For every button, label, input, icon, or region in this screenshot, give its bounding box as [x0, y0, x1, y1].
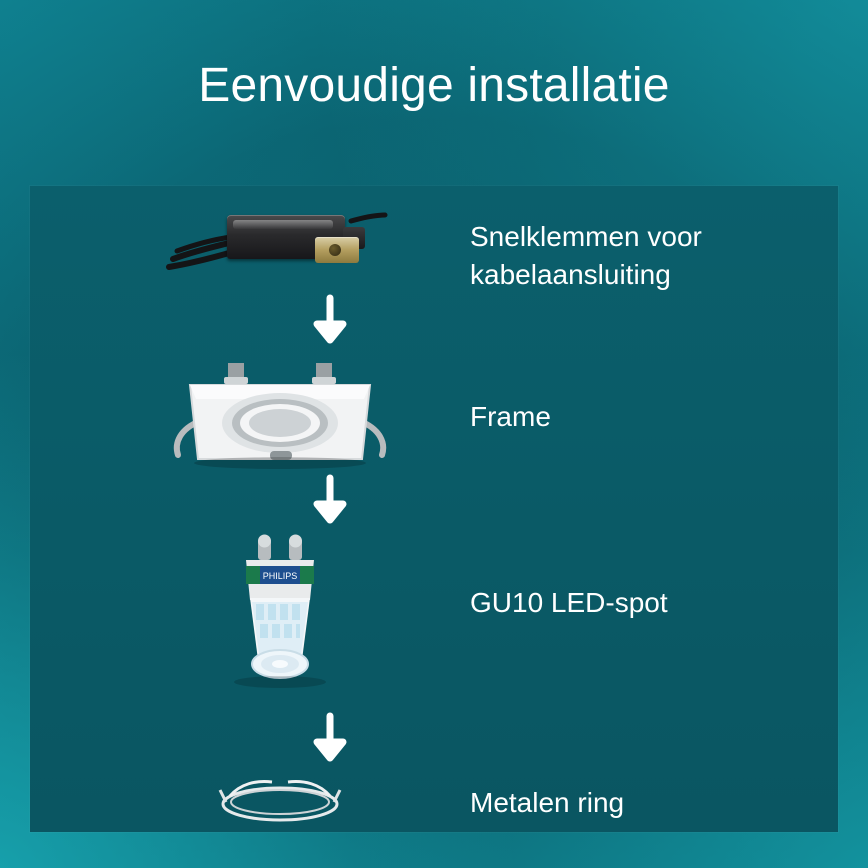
gu10-led-lamp-icon: PHILIPS: [180, 536, 380, 696]
step-ring-label: Metalen ring: [470, 784, 820, 822]
down-arrow-icon-1: [305, 296, 355, 344]
step-lamp-art: PHILIPS: [150, 536, 410, 696]
step-ring-art: [150, 772, 410, 832]
step-connector-label: Snelklemmen voor kabelaansluiting: [470, 218, 820, 294]
down-arrow-icon-2: [305, 476, 355, 524]
step-connector-art: [150, 200, 410, 300]
poster-canvas: Eenvoudige installatie Snelklemmen voor …: [0, 0, 868, 868]
cable-connector-block-icon: [165, 207, 395, 293]
down-arrow-icon-3: [305, 714, 355, 762]
step-frame-label: Frame: [470, 398, 820, 436]
step-lamp-label: GU10 LED-spot: [470, 584, 820, 622]
diagram-panel: Snelklemmen voor kabelaansluiting: [30, 186, 838, 832]
svg-text:PHILIPS: PHILIPS: [263, 571, 298, 581]
page-title: Eenvoudige installatie: [0, 58, 868, 113]
connector-brass-terminal: [315, 237, 359, 263]
square-downlight-frame-icon: [160, 359, 400, 479]
step-frame-art: [150, 354, 410, 484]
metal-spring-ring-icon: [180, 772, 380, 832]
